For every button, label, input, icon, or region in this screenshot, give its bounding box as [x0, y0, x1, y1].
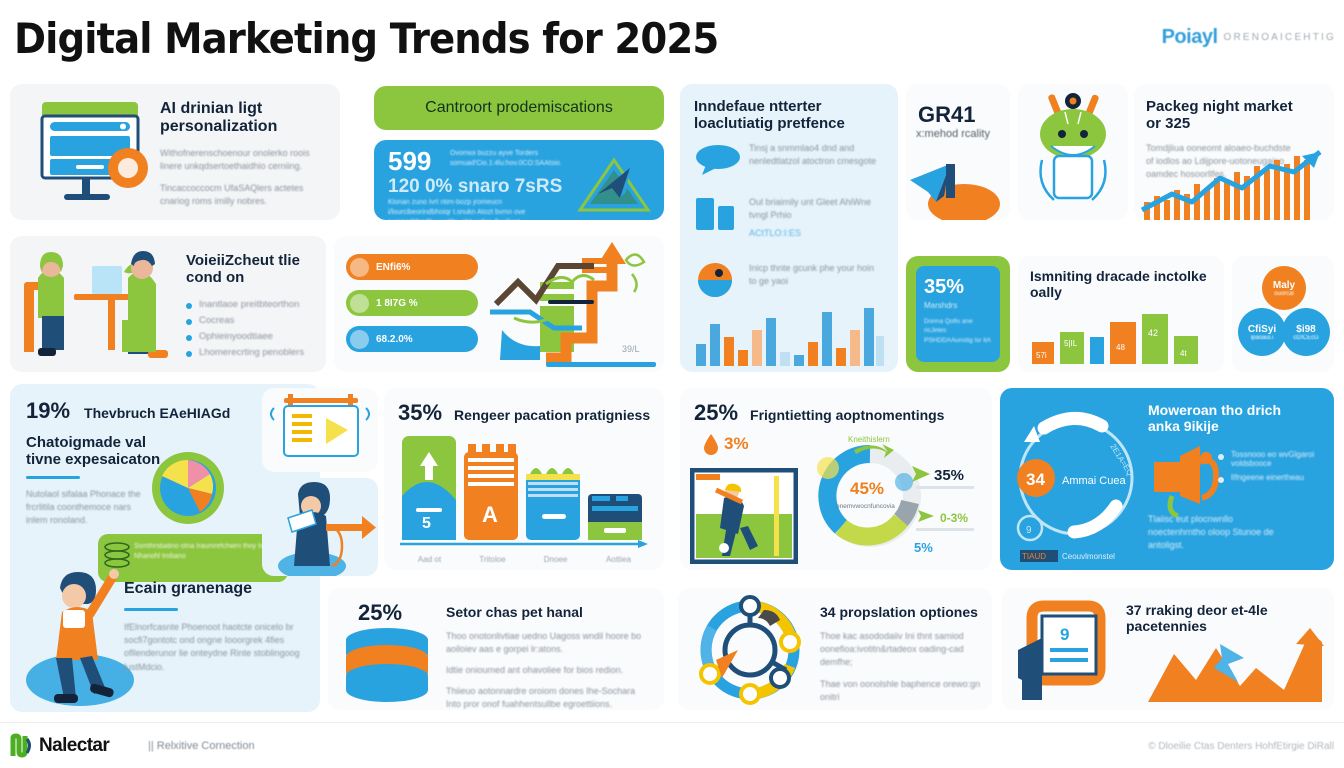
- circle-top[interactable]: Maly ouorcal: [1262, 266, 1306, 310]
- donut-pct: 25%: [694, 400, 738, 426]
- svg-text:34: 34: [1026, 470, 1045, 489]
- svg-text:5: 5: [422, 515, 431, 532]
- sector-body-3: Thiieuo aotonnardre oroiom dones Ihe-Soc…: [446, 685, 650, 710]
- svg-text:onemvwocnfuncovia: onemvwocnfuncovia: [836, 503, 895, 510]
- orange-mountain-chart-icon: [1144, 624, 1330, 706]
- bullet-dot-icon: [186, 319, 192, 325]
- card-robot[interactable]: [1018, 84, 1128, 220]
- zigzag-up-arrow-icon: 39/L: [540, 240, 660, 368]
- card-voice-search[interactable]: VoieiiZcheut tlie cond on Inantlaoe prei…: [10, 236, 326, 372]
- chatbot-divider: [26, 476, 80, 479]
- decade-heading: Ismniting dracade inctolke oally: [1030, 268, 1210, 300]
- donut-chart: 45% onemvwocnfuncovia Kneithislern 35% 0…: [808, 432, 986, 562]
- svg-text:TIAUD: TIAUD: [1022, 552, 1046, 561]
- svg-text:42: 42: [1148, 328, 1158, 338]
- card-circles[interactable]: Maly ouorcal CfiSyi ipaoaui.i $i98 cl2IC…: [1232, 256, 1334, 372]
- bullet-dot-icon: [186, 303, 192, 309]
- brand-mark-text: Poiayl: [1162, 26, 1218, 49]
- interest-row-1-sub: ACtTLO:I:ES: [749, 227, 877, 240]
- infographic-page: Digital Marketing Trends for 2025 Poiayl…: [0, 0, 1344, 768]
- chatbot-chip-text: Ssmthrsbatino otna Iraumrefchwrn thoy Iv…: [134, 542, 278, 562]
- footer-copyright: © Dloeilie Ctas Denters HohfEtirgie DiRa…: [1148, 741, 1334, 752]
- cycle-heading: Moweroan tho drich anka 9ikije: [1148, 402, 1308, 434]
- bullet-dot-icon: [186, 351, 192, 357]
- ai-card-heading: AI drinian ligt personalization: [160, 100, 330, 137]
- circle-left[interactable]: CfiSyi ipaoaui.i: [1238, 308, 1286, 356]
- chatbot-pct-label: Thevbruch EAeHIAGd: [84, 405, 230, 421]
- pill-icon: [350, 258, 369, 277]
- brand-sub-text: ORENOAICEHTIG: [1224, 32, 1337, 43]
- interest-row-2-text: Inicp thnte gcunk phe your hoin to ge ya…: [749, 262, 877, 298]
- svg-text:Ceouvlmonstel: Ceouvlmonstel: [1062, 552, 1115, 561]
- circle-right-l2: cl2ICEcG: [1293, 335, 1318, 341]
- pill-stat-1-label: 1 8I7G %: [376, 298, 418, 309]
- voice-bullet-0: Inantlaoe preitbteorthon: [186, 299, 320, 310]
- blue-stat-note: Ovomioi buzzu ayve Torders somuad'Cio.1:…: [450, 149, 570, 169]
- card-ai-personalization[interactable]: AI drinian ligt personalization Withofne…: [10, 84, 340, 220]
- cycle-gear-icon: 34 Ammai Cuea 2E1A=EQ 9 TIAUD Ceouvlmons…: [1004, 394, 1154, 564]
- decade-bar-chart: 57i 5|IL 48 42 4t: [1030, 310, 1212, 364]
- sector-pct: 25%: [358, 600, 402, 626]
- page-header: Digital Marketing Trends for 2025 Poiayl…: [0, 0, 1344, 78]
- chatbot-heading: Chatoigmade val tivne expesaicaton: [26, 434, 166, 469]
- svg-text:Ammai Cuea: Ammai Cuea: [1062, 475, 1126, 487]
- card-presentation[interactable]: [262, 388, 378, 472]
- card-decade-bars[interactable]: Ismniting dracade inctolke oally 57i 5|I…: [1018, 256, 1224, 372]
- circle-right-l1: $i98: [1296, 324, 1315, 335]
- circle-left-l1: CfiSyi: [1248, 324, 1276, 335]
- ranger-axis-label-3: Aottiea: [587, 555, 650, 564]
- svg-text:5|IL: 5|IL: [1064, 339, 1078, 348]
- ai-card-body-1: Withofnerenschoenour onolerko roois line…: [160, 147, 330, 173]
- card-donut[interactable]: 25% Frigntietting aoptnomentings 3%: [680, 388, 992, 570]
- bullet-dot-icon: [1218, 477, 1224, 483]
- card-sector-data[interactable]: 25% Setor chas pet hanal Thoo onotonlivt…: [328, 588, 664, 710]
- cycle-bullet-0: Tossnooo eo wvGlgaroi voldsbooce: [1218, 450, 1324, 468]
- svg-text:57i: 57i: [1036, 351, 1047, 360]
- circle-top-l2: ouorcal: [1274, 291, 1294, 297]
- voice-bullet-2: Ophieinyoodtiaee: [186, 331, 320, 342]
- pill-stat-1[interactable]: 1 8I7G %: [346, 290, 478, 316]
- ranger-pct: 35%: [398, 400, 442, 426]
- magnifier-document-icon: 9: [1010, 594, 1120, 704]
- card-gr41[interactable]: GR41 x:mehod rcality: [906, 84, 1010, 220]
- presentation-board-icon: [266, 390, 374, 470]
- green-35-body: Donna Qofis ane ricJetes PSHDDAAunstig l…: [924, 317, 992, 345]
- pill-stat-0-label: ENfi6%: [376, 262, 410, 273]
- ranger-axis-label-1: Tritoloe: [461, 555, 524, 564]
- card-green-35[interactable]: 35% Marshdrs Donna Qofis ane ricJetes PS…: [906, 256, 1010, 372]
- interest-row-0-text: Tinsj a snmmlao4 dnd and nenledtlatzol a…: [749, 142, 877, 176]
- ranger-axis-label-0: Aad ot: [398, 555, 461, 564]
- svg-text:45%: 45%: [850, 479, 884, 498]
- svg-text:0-3%: 0-3%: [940, 511, 968, 525]
- pie-chart-icon: [150, 450, 226, 526]
- network-nodes-icon: [688, 594, 814, 706]
- interest-heading: Inndefaue ntterter loaclutiatig pretfenc…: [694, 98, 884, 133]
- ranger-bar-chart: 5 A: [398, 434, 650, 554]
- bullet-dot-icon: [186, 335, 192, 341]
- propagation-body-1: Thoe kac asododaiiv Ini thnt samiod oone…: [820, 630, 982, 669]
- donut-drop-stat: 3%: [724, 434, 749, 454]
- voice-bullet-3: Lhomerecrting penoblers: [186, 347, 320, 358]
- page-title: Digital Marketing Trends for 2025: [14, 14, 718, 63]
- svg-text:9: 9: [1026, 525, 1032, 536]
- person-window-icon: [690, 468, 798, 564]
- circle-left-l2: ipaoaui.i: [1251, 335, 1273, 341]
- engagement-body: IfElnorfcasnte Phoenoot haotcte onicelo …: [124, 621, 320, 673]
- speech-bubble-icon: [694, 142, 740, 176]
- pill-stat-0[interactable]: ENfi6%: [346, 254, 478, 280]
- footer-logo-name: Nalectar: [39, 735, 109, 757]
- desktop-monitor-icon: [24, 96, 154, 208]
- card-pill-stats[interactable]: ENfi6% 1 8I7G % 68.2.0%: [334, 236, 664, 372]
- nalectar-mark-icon: [10, 733, 36, 759]
- paper-plane-orange-icon: [906, 158, 1010, 220]
- svg-text:5%: 5%: [914, 540, 933, 555]
- blue-stat-body: Klonan zuno Ivrt ntim-bozp jromeucn i/lo…: [388, 198, 533, 220]
- bar-pair-icon: [694, 196, 740, 232]
- paper-plane-badge-icon: [568, 146, 660, 218]
- card-woman-laptop[interactable]: [262, 478, 378, 576]
- card-propagation[interactable]: 34 propslation optiones Thoe kac asododa…: [678, 588, 992, 710]
- drop-icon: [702, 432, 720, 456]
- card-tracking[interactable]: 9 37 rraking deor et-4le pacetennies: [1002, 588, 1334, 710]
- pill-stat-2[interactable]: 68.2.0%: [346, 326, 478, 352]
- brand-logo: Poiayl ORENOAICEHTIG: [1162, 26, 1336, 49]
- card-blue-stat[interactable]: 599 Ovomioi buzzu ayve Torders somuad'Ci…: [374, 140, 664, 220]
- card-packed-market[interactable]: Packeg night market or 325 Tomdjliua oon…: [1134, 84, 1334, 220]
- footer-tagline: || Relxitive Cornection: [148, 740, 255, 752]
- circle-top-l1: Maly: [1273, 280, 1295, 291]
- packed-market-heading: Packeg night market or 325: [1146, 98, 1296, 133]
- ai-card-body-2: Tincaccoccocm UfaSAQlers actetes cnariog…: [160, 182, 330, 208]
- green-35-sub: Marshdrs: [924, 301, 992, 310]
- card-engagement[interactable]: Ecain granenage IfElnorfcasnte Phoenoot …: [124, 580, 320, 674]
- propagation-body-2: Thae von oonolshle baphence orewo:gn oni…: [820, 678, 982, 704]
- banner-green[interactable]: Cantroort prodemiscations: [374, 86, 664, 130]
- gr41-value: GR41: [918, 102, 975, 128]
- sector-heading: Setor chas pet hanal: [446, 604, 650, 620]
- woman-laptop-arrow-icon: [264, 480, 376, 576]
- blue-stat-value-2: 120 0% snaro 7sRS: [388, 176, 562, 198]
- donut-heading: Frigntietting aoptnomentings: [750, 407, 944, 423]
- cycle-bullet-1: lIfngeene einertheau: [1218, 473, 1324, 483]
- svg-text:A: A: [482, 502, 498, 527]
- sector-body-2: Idtie onioumed ant ohavoliee for bios re…: [446, 664, 650, 677]
- sector-body-1: Thoo onotonlivtiae uedno Uagoss wndil ho…: [446, 630, 650, 656]
- ranger-heading: Rengeer pacation pratigniess: [454, 407, 650, 423]
- database-cylinder-icon: [342, 626, 432, 702]
- pill-stat-2-label: 68.2.0%: [376, 334, 413, 345]
- card-ranger-bars[interactable]: 35% Rengeer pacation pratigniess 5 A: [384, 388, 664, 570]
- chatbot-pct: 19%: [26, 398, 70, 424]
- gr41-caption: x:mehod rcality: [916, 128, 990, 140]
- cycle-body: Tlaiisc eut plocnwnllo noectenhrntho olo…: [1148, 513, 1278, 552]
- svg-text:9: 9: [1060, 625, 1069, 644]
- circle-right[interactable]: $i98 cl2ICEcG: [1282, 308, 1330, 356]
- interest-row-1-text: Oul briaimily unt Gleet AhiWne tvngl Prh…: [749, 196, 877, 222]
- card-blue-cycle[interactable]: 34 Ammai Cuea 2E1A=EQ 9 TIAUD Ceouvlmons…: [1000, 388, 1334, 570]
- page-footer: Nalectar || Relxitive Cornection © Dloei…: [0, 722, 1344, 768]
- engagement-heading: Ecain granenage: [124, 580, 320, 598]
- bullet-dot-icon: [1218, 454, 1224, 460]
- svg-text:48: 48: [1116, 343, 1125, 352]
- pill-icon: [350, 294, 369, 313]
- voice-search-heading: VoieiiZcheut tlie cond on: [186, 252, 320, 287]
- pie-slice-icon: [694, 262, 740, 298]
- chatbot-body: Nutolaol sifalaa Phonace the frcrlitila …: [26, 488, 146, 527]
- voice-bullet-1: Cocreas: [186, 315, 320, 326]
- mini-bar-chart: [694, 304, 884, 366]
- arrow-note-text: 39/L: [622, 344, 640, 354]
- svg-text:Kneithislern: Kneithislern: [848, 435, 890, 444]
- engagement-divider: [124, 608, 178, 611]
- footer-logo[interactable]: Nalectar: [10, 733, 109, 759]
- svg-text:35%: 35%: [934, 467, 964, 484]
- svg-text:4t: 4t: [1180, 349, 1187, 358]
- pill-icon: [350, 330, 369, 349]
- growth-arrow-bars-icon: [1134, 150, 1334, 220]
- two-people-table-icon: [16, 244, 186, 368]
- green-robot-icon: [1018, 84, 1128, 220]
- ranger-axis-label-2: Dnoee: [524, 555, 587, 564]
- propagation-heading: 34 propslation optiones: [820, 604, 982, 620]
- card-interest-preference[interactable]: Inndefaue ntterter loaclutiatig pretfenc…: [680, 84, 898, 372]
- banner-green-label: Cantroort prodemiscations: [425, 99, 613, 117]
- green-35-value: 35%: [924, 276, 992, 299]
- blue-stat-value-1: 599: [388, 146, 431, 177]
